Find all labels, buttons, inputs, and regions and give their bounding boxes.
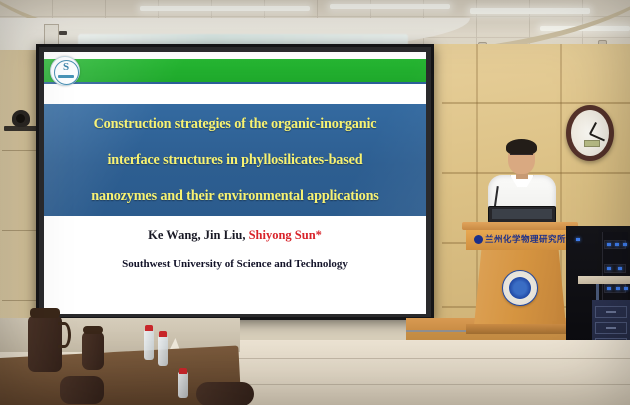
slide-accent-rule bbox=[44, 82, 426, 84]
podium-banner-seal-icon bbox=[474, 235, 483, 244]
wall-clock bbox=[566, 105, 614, 161]
podium-banner-text: 兰州化学物理研究所 bbox=[468, 232, 572, 248]
thermos-flask bbox=[28, 316, 62, 372]
podium-top-surface bbox=[462, 222, 578, 230]
thermos-lid bbox=[30, 308, 60, 318]
slide-title-line-1: Construction strategies of the organic-i… bbox=[54, 117, 416, 132]
authors-plain: Ke Wang, Jin Liu, bbox=[148, 228, 245, 242]
podium-banner-label: 兰州化学物理研究所 bbox=[485, 235, 566, 245]
rack-led bbox=[607, 243, 611, 246]
podium-front-panel bbox=[474, 250, 566, 326]
ceiling-camera-icon bbox=[12, 110, 30, 127]
slide-title-line-2: interface structures in phyllosilicates-… bbox=[54, 153, 416, 168]
university-seal-logo: S bbox=[50, 56, 80, 86]
thermos-flask bbox=[82, 332, 104, 370]
water-bottle bbox=[144, 330, 154, 360]
slide-green-band bbox=[44, 59, 426, 82]
rack-led bbox=[607, 287, 611, 290]
slide-affiliation: Southwest University of Science and Tech… bbox=[44, 258, 426, 270]
bottle-cap bbox=[159, 331, 167, 337]
glasses-icon bbox=[510, 154, 533, 159]
slide-authors: Ke Wang, Jin Liu, Shiyong Sun* bbox=[44, 228, 426, 243]
speaker-hair bbox=[506, 139, 537, 155]
bottle-cap bbox=[145, 325, 153, 331]
institute-emblem bbox=[502, 270, 538, 306]
water-bottle bbox=[178, 372, 188, 398]
clock-date-window bbox=[584, 140, 600, 147]
lecture-hall-photo: S Construction strategies of the organic… bbox=[0, 0, 630, 405]
slide-title: Construction strategies of the organic-i… bbox=[54, 106, 416, 214]
rack-led bbox=[615, 243, 619, 246]
thermos-handle bbox=[58, 322, 71, 348]
rack-led bbox=[607, 267, 611, 270]
slide-title-line-3: nanozymes and their environmental applic… bbox=[54, 189, 416, 204]
rack-led bbox=[618, 267, 622, 270]
side-table bbox=[578, 276, 630, 284]
rack-led bbox=[576, 238, 580, 241]
podium-base bbox=[466, 324, 574, 334]
seal-bar bbox=[58, 75, 74, 78]
clock-face bbox=[571, 110, 609, 156]
bottle-cap bbox=[179, 368, 187, 374]
thermos-lid bbox=[83, 326, 103, 334]
podium: 兰州化学物理研究所 bbox=[468, 222, 572, 334]
presentation-slide[interactable]: S Construction strategies of the organic… bbox=[44, 52, 426, 314]
thermos-flask bbox=[196, 382, 254, 405]
presenter-laptop bbox=[488, 206, 556, 223]
rack-led bbox=[616, 287, 620, 290]
corresponding-author: Shiyong Sun* bbox=[249, 228, 322, 242]
thermos-flask bbox=[60, 376, 104, 404]
rack-led bbox=[624, 287, 628, 290]
water-bottle bbox=[158, 336, 168, 366]
rack-led bbox=[623, 243, 627, 246]
